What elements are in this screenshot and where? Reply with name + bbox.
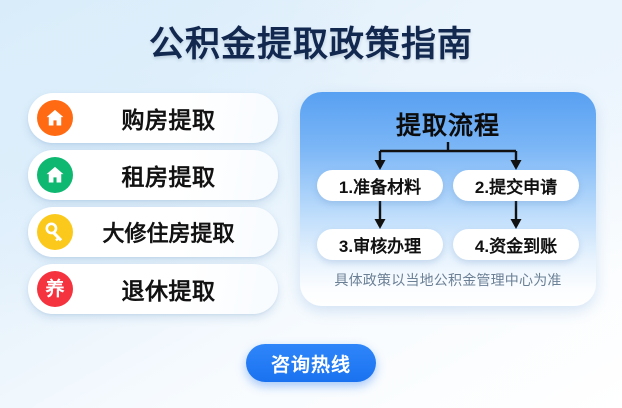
flow-step-label: 4.资金到账 bbox=[475, 232, 557, 257]
key-icon bbox=[37, 214, 73, 250]
flow-title: 提取流程 bbox=[300, 106, 596, 142]
yang-glyph: 养 bbox=[45, 280, 64, 299]
flow-step-4[interactable]: 4.资金到账 bbox=[453, 229, 579, 260]
category-item-home-purchase[interactable]: 购房提取 bbox=[28, 93, 278, 143]
category-item-retirement[interactable]: 养 退休提取 bbox=[28, 264, 278, 314]
house-icon bbox=[37, 157, 73, 193]
flow-step-label: 1.准备材料 bbox=[339, 173, 421, 198]
consult-hotline-label: 咨询热线 bbox=[271, 350, 351, 377]
category-label: 购房提取 bbox=[73, 101, 278, 135]
flow-step-label: 3.审核办理 bbox=[339, 232, 421, 257]
yang-character-icon: 养 bbox=[37, 271, 73, 307]
flow-step-3[interactable]: 3.审核办理 bbox=[317, 229, 443, 260]
flow-disclaimer: 具体政策以当地公积金管理中心为准 bbox=[300, 270, 596, 290]
flow-panel: 提取流程 bbox=[300, 92, 596, 306]
page-title: 公积金提取政策指南 bbox=[0, 23, 622, 67]
category-item-major-repair[interactable]: 大修住房提取 bbox=[28, 207, 278, 257]
category-label: 退休提取 bbox=[73, 272, 278, 306]
category-list: 购房提取 租房提取 大修住房提取 bbox=[28, 93, 278, 321]
poster-canvas: 公积金提取政策指南 购房提取 租房提取 bbox=[0, 0, 622, 408]
category-item-home-rent[interactable]: 租房提取 bbox=[28, 150, 278, 200]
flow-step-2[interactable]: 2.提交申请 bbox=[453, 170, 579, 201]
category-label: 大修住房提取 bbox=[73, 216, 278, 248]
category-label: 租房提取 bbox=[73, 158, 278, 192]
flow-step-1[interactable]: 1.准备材料 bbox=[317, 170, 443, 201]
house-icon bbox=[37, 100, 73, 136]
consult-hotline-button[interactable]: 咨询热线 bbox=[246, 344, 376, 382]
flow-step-label: 2.提交申请 bbox=[475, 173, 557, 198]
